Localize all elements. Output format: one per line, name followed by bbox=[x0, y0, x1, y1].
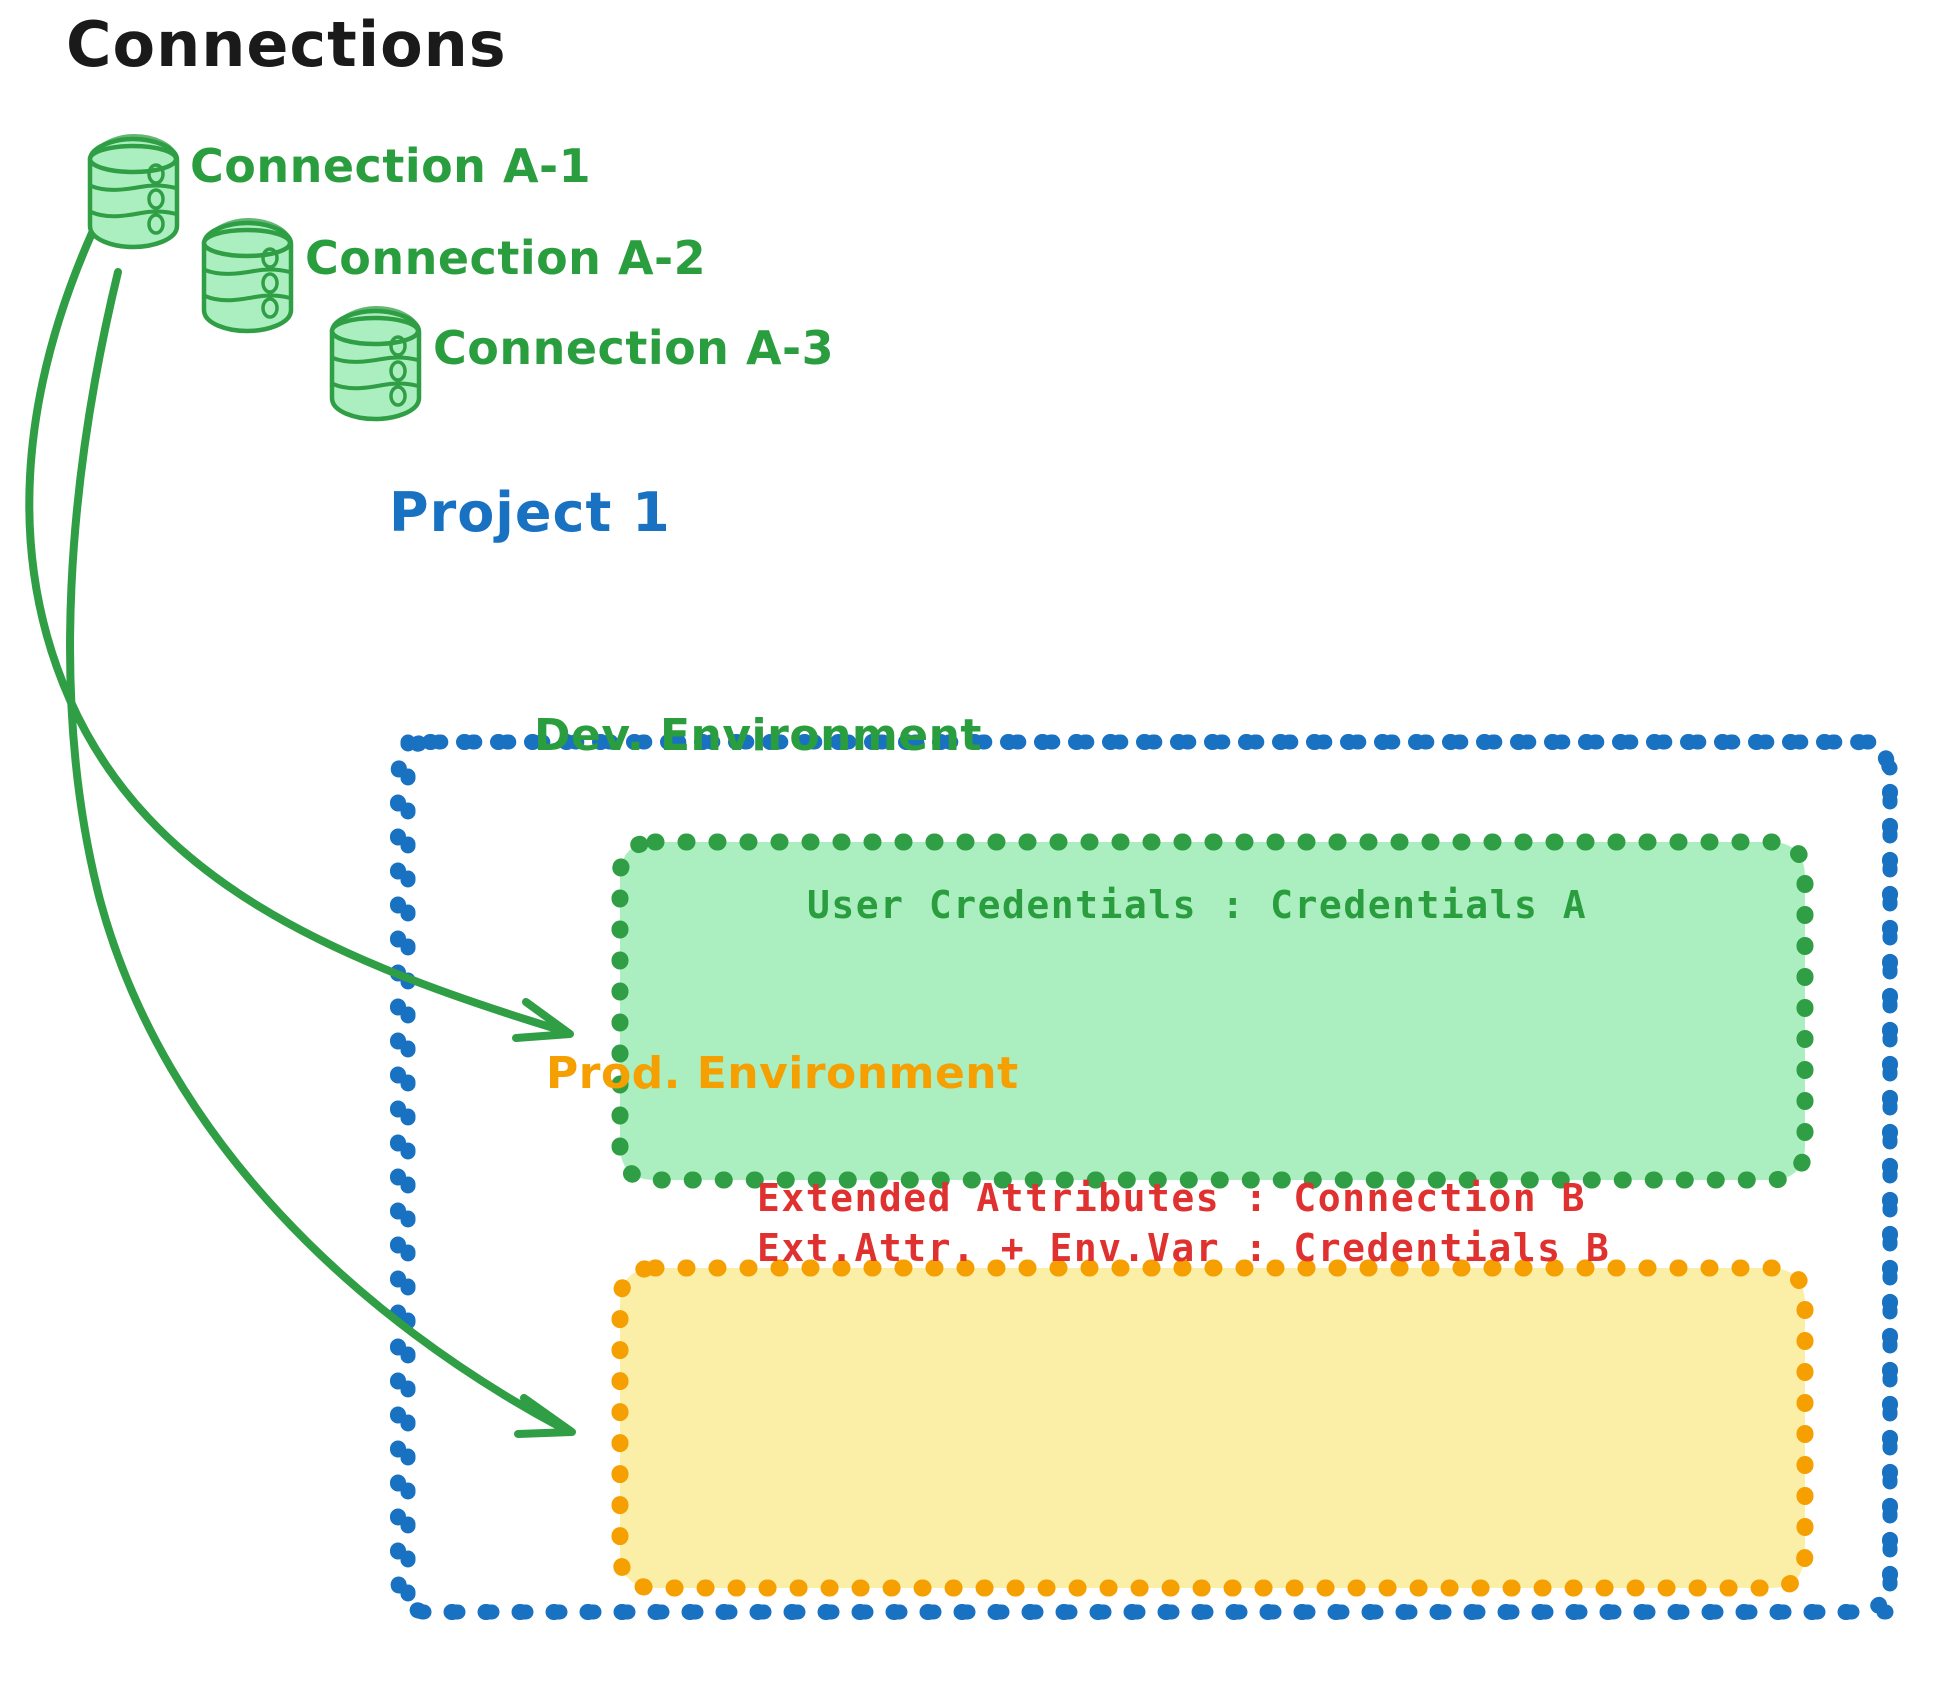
dev-environment-credentials-line: User Credentials : Credentials A bbox=[807, 885, 1587, 926]
diagram-sketch-layer bbox=[0, 0, 1938, 1691]
arrow-connection-to-prod bbox=[70, 272, 572, 1434]
diagram-canvas: Connections Connection A-1 Connection A-… bbox=[0, 0, 1938, 1691]
page-title: Connections bbox=[66, 12, 507, 79]
prod-environment-box bbox=[620, 1268, 1805, 1588]
database-icon-2 bbox=[204, 220, 291, 331]
prod-environment-attributes-line: Extended Attributes : Connection B bbox=[757, 1178, 1586, 1219]
prod-environment-credentials-line: Ext.Attr. + Env.Var : Credentials B bbox=[757, 1228, 1610, 1269]
connection-label-a2: Connection A-2 bbox=[305, 234, 706, 284]
connection-label-a3: Connection A-3 bbox=[433, 324, 834, 374]
database-icon-3 bbox=[332, 308, 419, 419]
project-title: Project 1 bbox=[389, 484, 671, 542]
database-icon-1 bbox=[90, 136, 177, 247]
prod-environment-title: Prod. Environment bbox=[546, 1050, 1019, 1098]
dev-environment-title: Dev. Environment bbox=[534, 712, 982, 760]
connection-label-a1: Connection A-1 bbox=[190, 142, 591, 192]
